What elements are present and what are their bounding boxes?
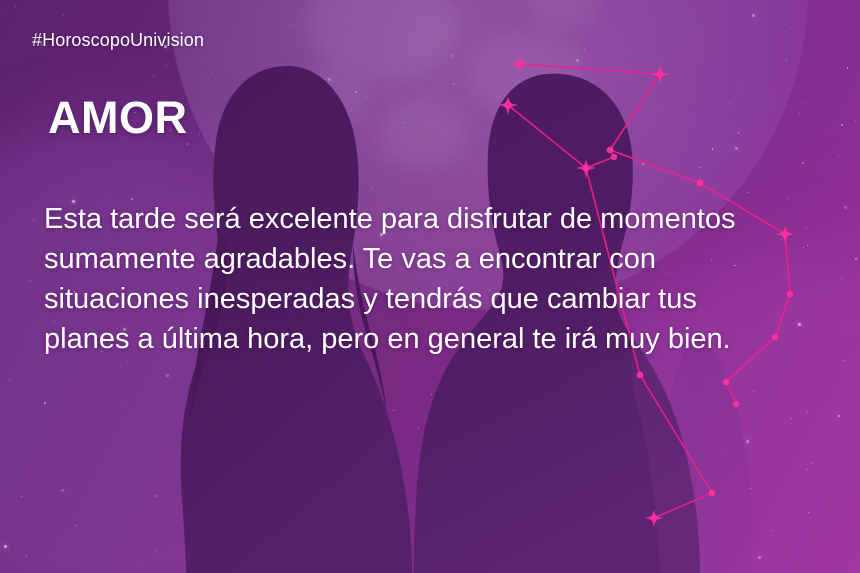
horoscope-card: #HoroscopoUnivision AMOR Esta tarde será… xyxy=(0,0,860,573)
horoscope-body-line: sumamente agradables. Te vas a encontrar… xyxy=(44,239,844,279)
horoscope-body-text: Esta tarde será excelente para disfrutar… xyxy=(44,199,844,359)
horoscope-body-line: Esta tarde será excelente para disfrutar… xyxy=(44,199,844,239)
hashtag-label: #HoroscopoUnivision xyxy=(32,30,204,51)
page-title: AMOR xyxy=(48,92,187,144)
horoscope-body-line: situaciones inesperadas y tendrás que ca… xyxy=(44,279,844,319)
horoscope-body-line: planes a última hora, pero en general te… xyxy=(44,319,844,359)
